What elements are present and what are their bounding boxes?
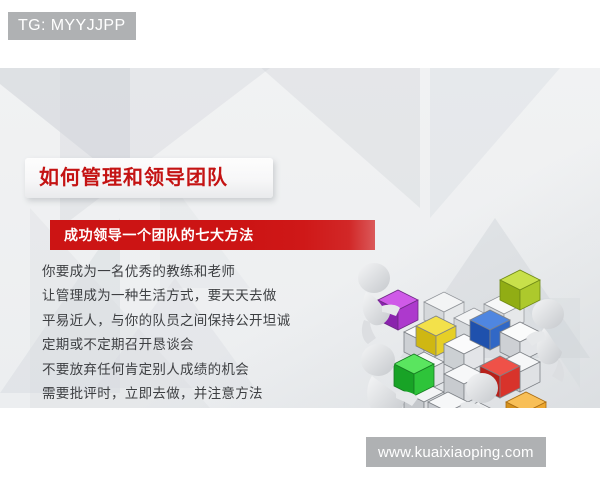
body-line: 需要批评时，立即去做，并注意方法 [42,382,342,406]
background-facet [60,68,270,228]
body-line: 不要放弃任何肯定别人成绩的机会 [42,358,342,382]
telegram-watermark-text: TG: MYYJJPP [18,17,126,35]
page-canvas: 如何管理和领导团队 成功领导一个团队的七大方法 你要成为一名优秀的教练和老师 让… [0,0,600,480]
cube-puzzle-illustration [352,256,592,408]
slide-subtitle: 成功领导一个团队的七大方法 [50,225,254,245]
site-watermark-text: www.kuaixiaoping.com [378,444,534,461]
slide-body: 如何管理和领导团队 成功领导一个团队的七大方法 你要成为一名优秀的教练和老师 让… [0,68,600,408]
body-line: 让管理成为一种生活方式，要天天去做 [42,284,342,308]
body-line: 定期或不定期召开恳谈会 [42,333,342,357]
cube-puzzle-graphic [352,256,592,408]
telegram-watermark: TG: MYYJJPP [8,12,136,40]
background-facet [430,68,560,218]
site-watermark: www.kuaixiaoping.com [366,437,546,467]
slide-title-bar: 如何管理和领导团队 [25,158,273,198]
body-line: 保持铁的纪律 [42,406,342,408]
page-title: 如何管理和领导团队 [25,168,228,188]
slide-subtitle-bar: 成功领导一个团队的七大方法 [50,220,375,250]
slide-body-text: 你要成为一名优秀的教练和老师 让管理成为一种生活方式，要天天去做 平易近人，与你… [42,260,342,408]
body-line: 平易近人，与你的队员之间保持公开坦诚 [42,309,342,333]
body-line: 你要成为一名优秀的教练和老师 [42,260,342,284]
background-facet [250,68,420,208]
